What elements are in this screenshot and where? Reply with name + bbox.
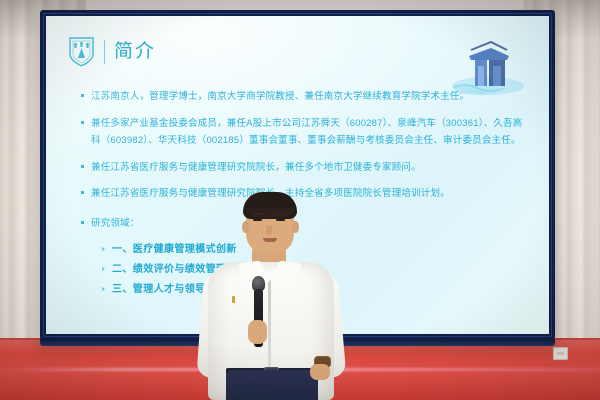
arrow-marker-icon xyxy=(102,267,105,271)
bullet-item: 江苏南京人，管理学博士，南京大学商学院教授、兼任南京大学继续教育学院学术主任。 xyxy=(72,88,529,106)
speaker-eye-right xyxy=(276,218,285,221)
speaker-person xyxy=(196,188,346,400)
speaker-eyebrow-left xyxy=(252,213,263,215)
speaker-hair xyxy=(243,192,297,219)
shirt-placket xyxy=(268,280,271,376)
university-crest-icon xyxy=(68,36,95,67)
bullet-text: 江苏南京人，管理学博士，南京大学商学院教授、兼任南京大学继续教育学院学术主任。 xyxy=(91,88,469,106)
bullet-item: 兼任江苏省医疗服务与健康管理研究院院长，兼任多个地市卫健委专家顾问。 xyxy=(72,159,529,177)
bullet-marker-icon xyxy=(81,191,84,194)
speaker-ear-left xyxy=(242,221,249,233)
bullet-marker-icon xyxy=(81,165,84,168)
speaker-nose xyxy=(266,226,272,235)
header-divider xyxy=(104,40,105,64)
slide-header: 简介 xyxy=(68,36,156,67)
bullet-item: 兼任多家产业基金投委会成员，兼任A股上市公司江苏舜天（600287）、泉峰汽车（… xyxy=(72,115,529,150)
bullet-marker-icon xyxy=(81,121,84,124)
bullet-marker-icon xyxy=(81,221,84,224)
slide-title: 简介 xyxy=(114,42,156,61)
presentation-photo-scene: 简介 xyxy=(0,0,600,400)
arrow-marker-icon xyxy=(102,247,105,251)
speaker-eye-left xyxy=(253,218,262,221)
bullet-text: 兼任多家产业基金投委会成员，兼任A股上市公司江苏舜天（600287）、泉峰汽车（… xyxy=(91,115,529,150)
arrow-marker-icon xyxy=(102,287,105,291)
shirt-pocket-pen xyxy=(232,296,235,303)
research-heading: 研究领域： xyxy=(91,215,140,233)
wall-power-socket xyxy=(553,347,568,360)
speaker-trousers xyxy=(226,370,318,400)
bullet-text: 兼任江苏省医疗服务与健康管理研究院院长，兼任多个地市卫健委专家顾问。 xyxy=(91,159,421,177)
speaker-eyebrow-right xyxy=(275,213,286,215)
speaker-hand-holding-mic xyxy=(248,320,267,344)
bullet-marker-icon xyxy=(81,94,84,97)
speaker-ear-right xyxy=(292,221,299,233)
speaker-hand-on-hip xyxy=(310,364,330,380)
speaker-mouth xyxy=(263,238,277,242)
